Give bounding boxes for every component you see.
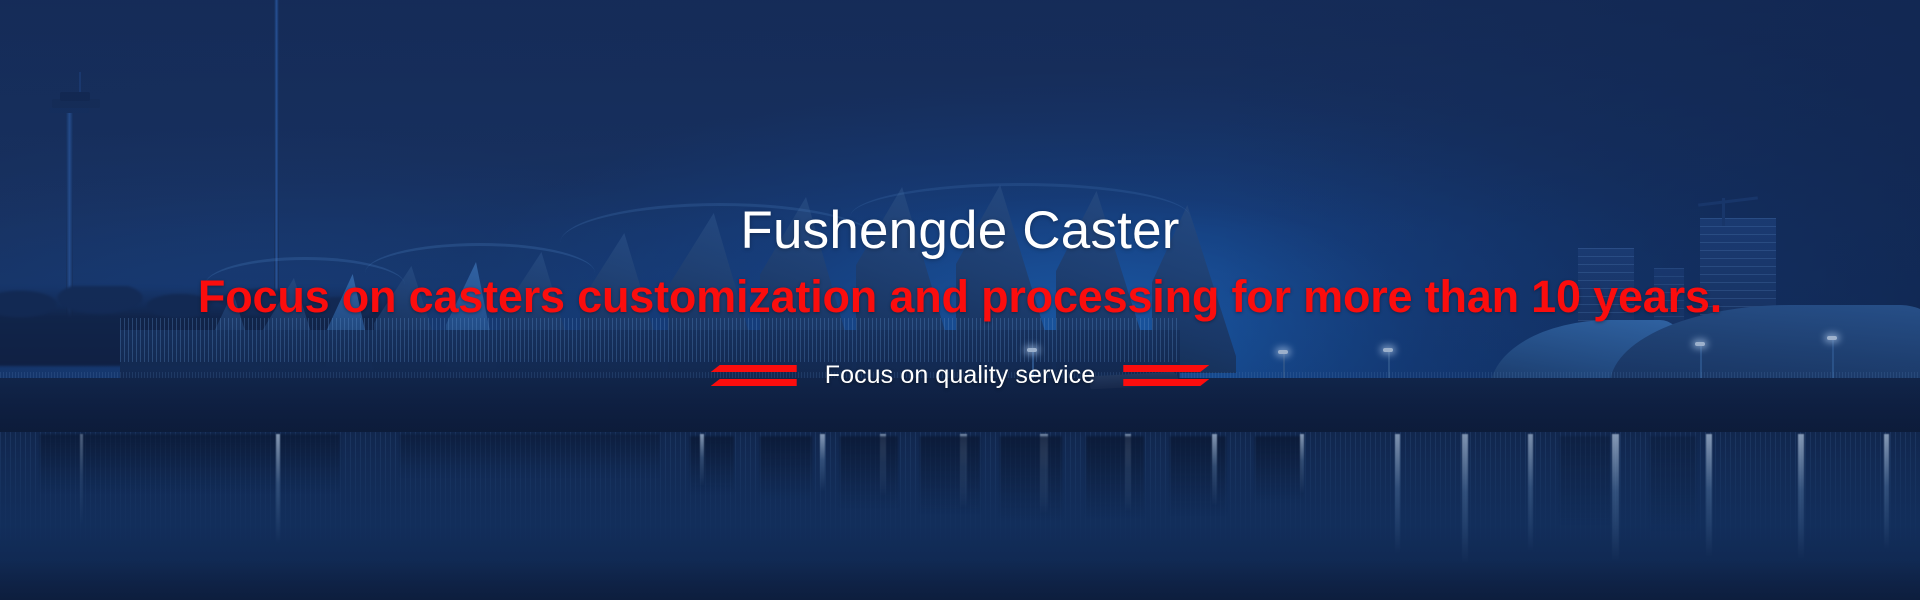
shore-embankment [0, 378, 1920, 434]
hero-banner: Fushengde Caster Focus on casters custom… [0, 0, 1920, 600]
waterfront-fence [120, 318, 1180, 362]
foreground-shade [0, 560, 1920, 600]
